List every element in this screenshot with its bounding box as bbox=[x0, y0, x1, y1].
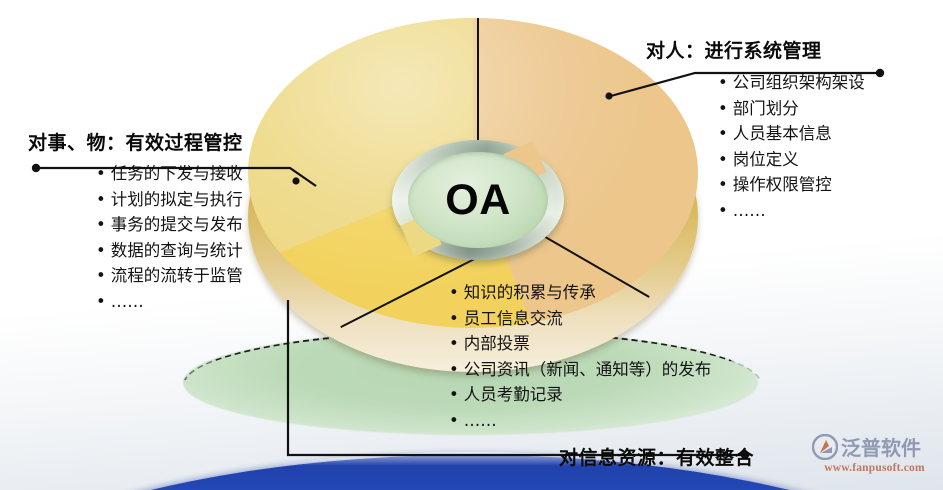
list-item: 内部投票 bbox=[449, 331, 754, 357]
oa-center-badge[interactable]: OA bbox=[392, 140, 564, 260]
callout-people-list: 公司组织架构架设 部门划分 人员基本信息 岗位定义 操作权限管控 …… bbox=[718, 70, 865, 223]
list-item: 任务的下发与接收 bbox=[96, 161, 243, 187]
callout-information: 知识的积累与传承 员工信息交流 内部投票 公司资讯（新闻、通知等）的发布 人员考… bbox=[449, 280, 754, 470]
list-item: 员工信息交流 bbox=[449, 306, 754, 332]
callout-things-list: 任务的下发与接收 计划的拟定与执行 事务的提交与发布 数据的查询与统计 流程的流… bbox=[96, 161, 243, 314]
watermark-brand-row: 泛普软件 bbox=[812, 432, 937, 461]
callout-information-list: 知识的积累与传承 员工信息交流 内部投票 公司资讯（新闻、通知等）的发布 人员考… bbox=[449, 280, 754, 433]
fanpu-logo-icon bbox=[812, 434, 838, 460]
list-item: 事务的提交与发布 bbox=[96, 212, 243, 238]
list-item: …… bbox=[96, 289, 243, 315]
list-item: 操作权限管控 bbox=[718, 172, 865, 198]
oa-label: OA bbox=[392, 140, 564, 260]
watermark-brand: 泛普软件 bbox=[841, 432, 921, 461]
callout-information-heading: 对信息资源：有效整合 bbox=[559, 443, 754, 470]
list-item: 部门划分 bbox=[718, 96, 865, 122]
callout-people: 对人：进行系统管理 公司组织架构架设 部门划分 人员基本信息 岗位定义 操作权限… bbox=[646, 36, 865, 223]
list-item: …… bbox=[718, 198, 865, 224]
list-item: 人员考勤记录 bbox=[449, 382, 754, 408]
list-item: 岗位定义 bbox=[718, 147, 865, 173]
watermark-url: www.fanpusoft.com bbox=[812, 462, 937, 474]
watermark: 泛普软件 www.fanpusoft.com bbox=[812, 432, 937, 480]
list-item: …… bbox=[449, 408, 754, 434]
list-item: 数据的查询与统计 bbox=[96, 238, 243, 264]
list-item: 公司组织架构架设 bbox=[718, 70, 865, 96]
list-item: 知识的积累与传承 bbox=[449, 280, 754, 306]
callout-things: 对事、物：有效过程管控 任务的下发与接收 计划的拟定与执行 事务的提交与发布 数… bbox=[28, 128, 243, 314]
diagram-canvas: OA 对事、物：有效过程管控 任务的下发与接收 计划的拟定与执行 事务的提交与发… bbox=[0, 0, 943, 490]
callout-things-heading: 对事、物：有效过程管控 bbox=[28, 128, 243, 155]
pie-divider-top bbox=[477, 18, 479, 144]
list-item: 公司资讯（新闻、通知等）的发布 bbox=[449, 357, 754, 383]
list-item: 流程的流转于监管 bbox=[96, 263, 243, 289]
list-item: 人员基本信息 bbox=[718, 121, 865, 147]
callout-people-heading: 对人：进行系统管理 bbox=[646, 36, 865, 63]
list-item: 计划的拟定与执行 bbox=[96, 187, 243, 213]
